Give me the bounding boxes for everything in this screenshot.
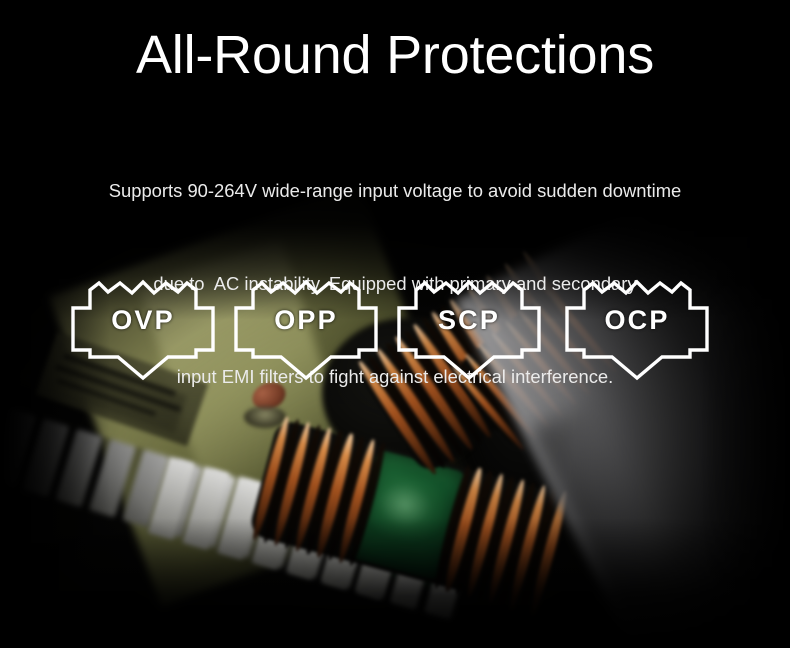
badge-label: SCP <box>394 303 544 337</box>
badge-label: OPP <box>231 303 381 337</box>
badge-over-voltage-protection: OVP <box>68 281 218 379</box>
badge-short-circuit-protection: SCP <box>394 281 544 379</box>
subtitle-line-1: Supports 90-264V wide-range input voltag… <box>32 175 758 206</box>
protection-badge-row: OVPOPPSCPOCP <box>0 281 790 381</box>
page-title: All-Round Protections <box>0 24 790 86</box>
promo-banner: All-Round Protections Supports 90-264V w… <box>0 0 790 648</box>
badge-over-current-protection: OCP <box>562 281 712 379</box>
badge-label: OVP <box>68 303 218 337</box>
badge-over-power-protection: OPP <box>231 281 381 379</box>
badge-label: OCP <box>562 303 712 337</box>
